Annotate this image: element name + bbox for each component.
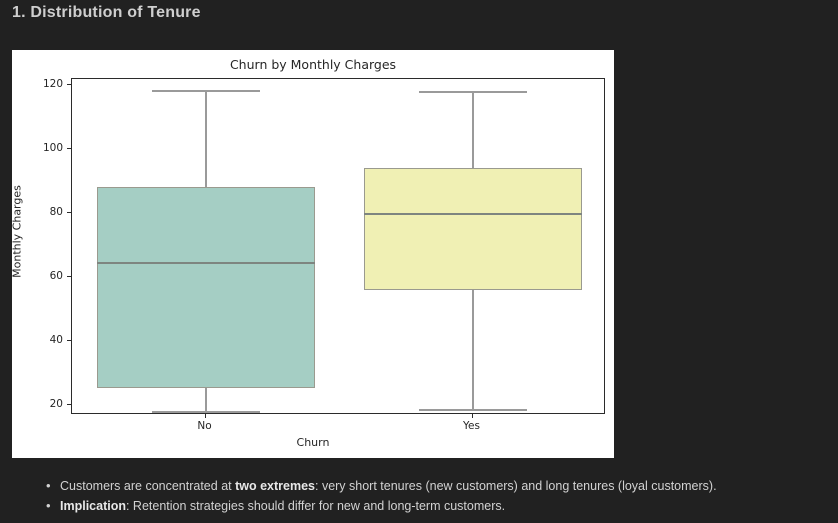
y-tick-label: 40 xyxy=(12,334,71,346)
list-item: Customers are concentrated at two extrem… xyxy=(46,476,717,496)
x-tick-mark xyxy=(205,414,206,418)
y-tick-mark xyxy=(67,340,71,341)
y-tick-mark xyxy=(67,212,71,213)
y-axis-label: Monthly Charges xyxy=(11,32,24,432)
y-tick-mark xyxy=(67,276,71,277)
boxplot-lower-cap xyxy=(152,411,260,413)
boxplot-box-yes xyxy=(364,168,582,290)
y-tick-label: 120 xyxy=(12,78,71,90)
boxplot-lower-whisker xyxy=(472,290,474,409)
boxplot-lower-cap xyxy=(419,409,527,411)
boxplot-median-yes xyxy=(364,213,582,215)
x-tick-mark xyxy=(472,414,473,418)
y-tick-mark xyxy=(67,404,71,405)
insight-bullet-list: Customers are concentrated at two extrem… xyxy=(28,476,717,516)
x-axis-label: Churn xyxy=(12,436,614,449)
chart-figure-panel: Churn by Monthly Charges Monthly Charges… xyxy=(12,50,614,458)
boxplot-upper-whisker xyxy=(205,90,207,187)
boxplot-upper-whisker xyxy=(472,91,474,168)
plot-axes xyxy=(71,78,605,414)
y-tick-mark xyxy=(67,148,71,149)
boxplot-median-no xyxy=(97,262,315,264)
boxplot-box-no xyxy=(97,187,315,388)
x-tick-label: No xyxy=(197,420,211,432)
boxplot-upper-cap xyxy=(419,91,527,93)
boxplot-upper-cap xyxy=(152,90,260,92)
list-item: Implication: Retention strategies should… xyxy=(46,496,717,516)
y-tick-label: 100 xyxy=(12,142,71,154)
y-tick-label: 20 xyxy=(12,398,71,410)
y-tick-label: 60 xyxy=(12,270,71,282)
boxplot-lower-whisker xyxy=(205,388,207,410)
y-tick-mark xyxy=(67,84,71,85)
x-tick-label: Yes xyxy=(463,420,480,432)
y-tick-label: 80 xyxy=(12,206,71,218)
page-title: 1. Distribution of Tenure xyxy=(12,4,201,22)
chart-title: Churn by Monthly Charges xyxy=(12,57,614,72)
